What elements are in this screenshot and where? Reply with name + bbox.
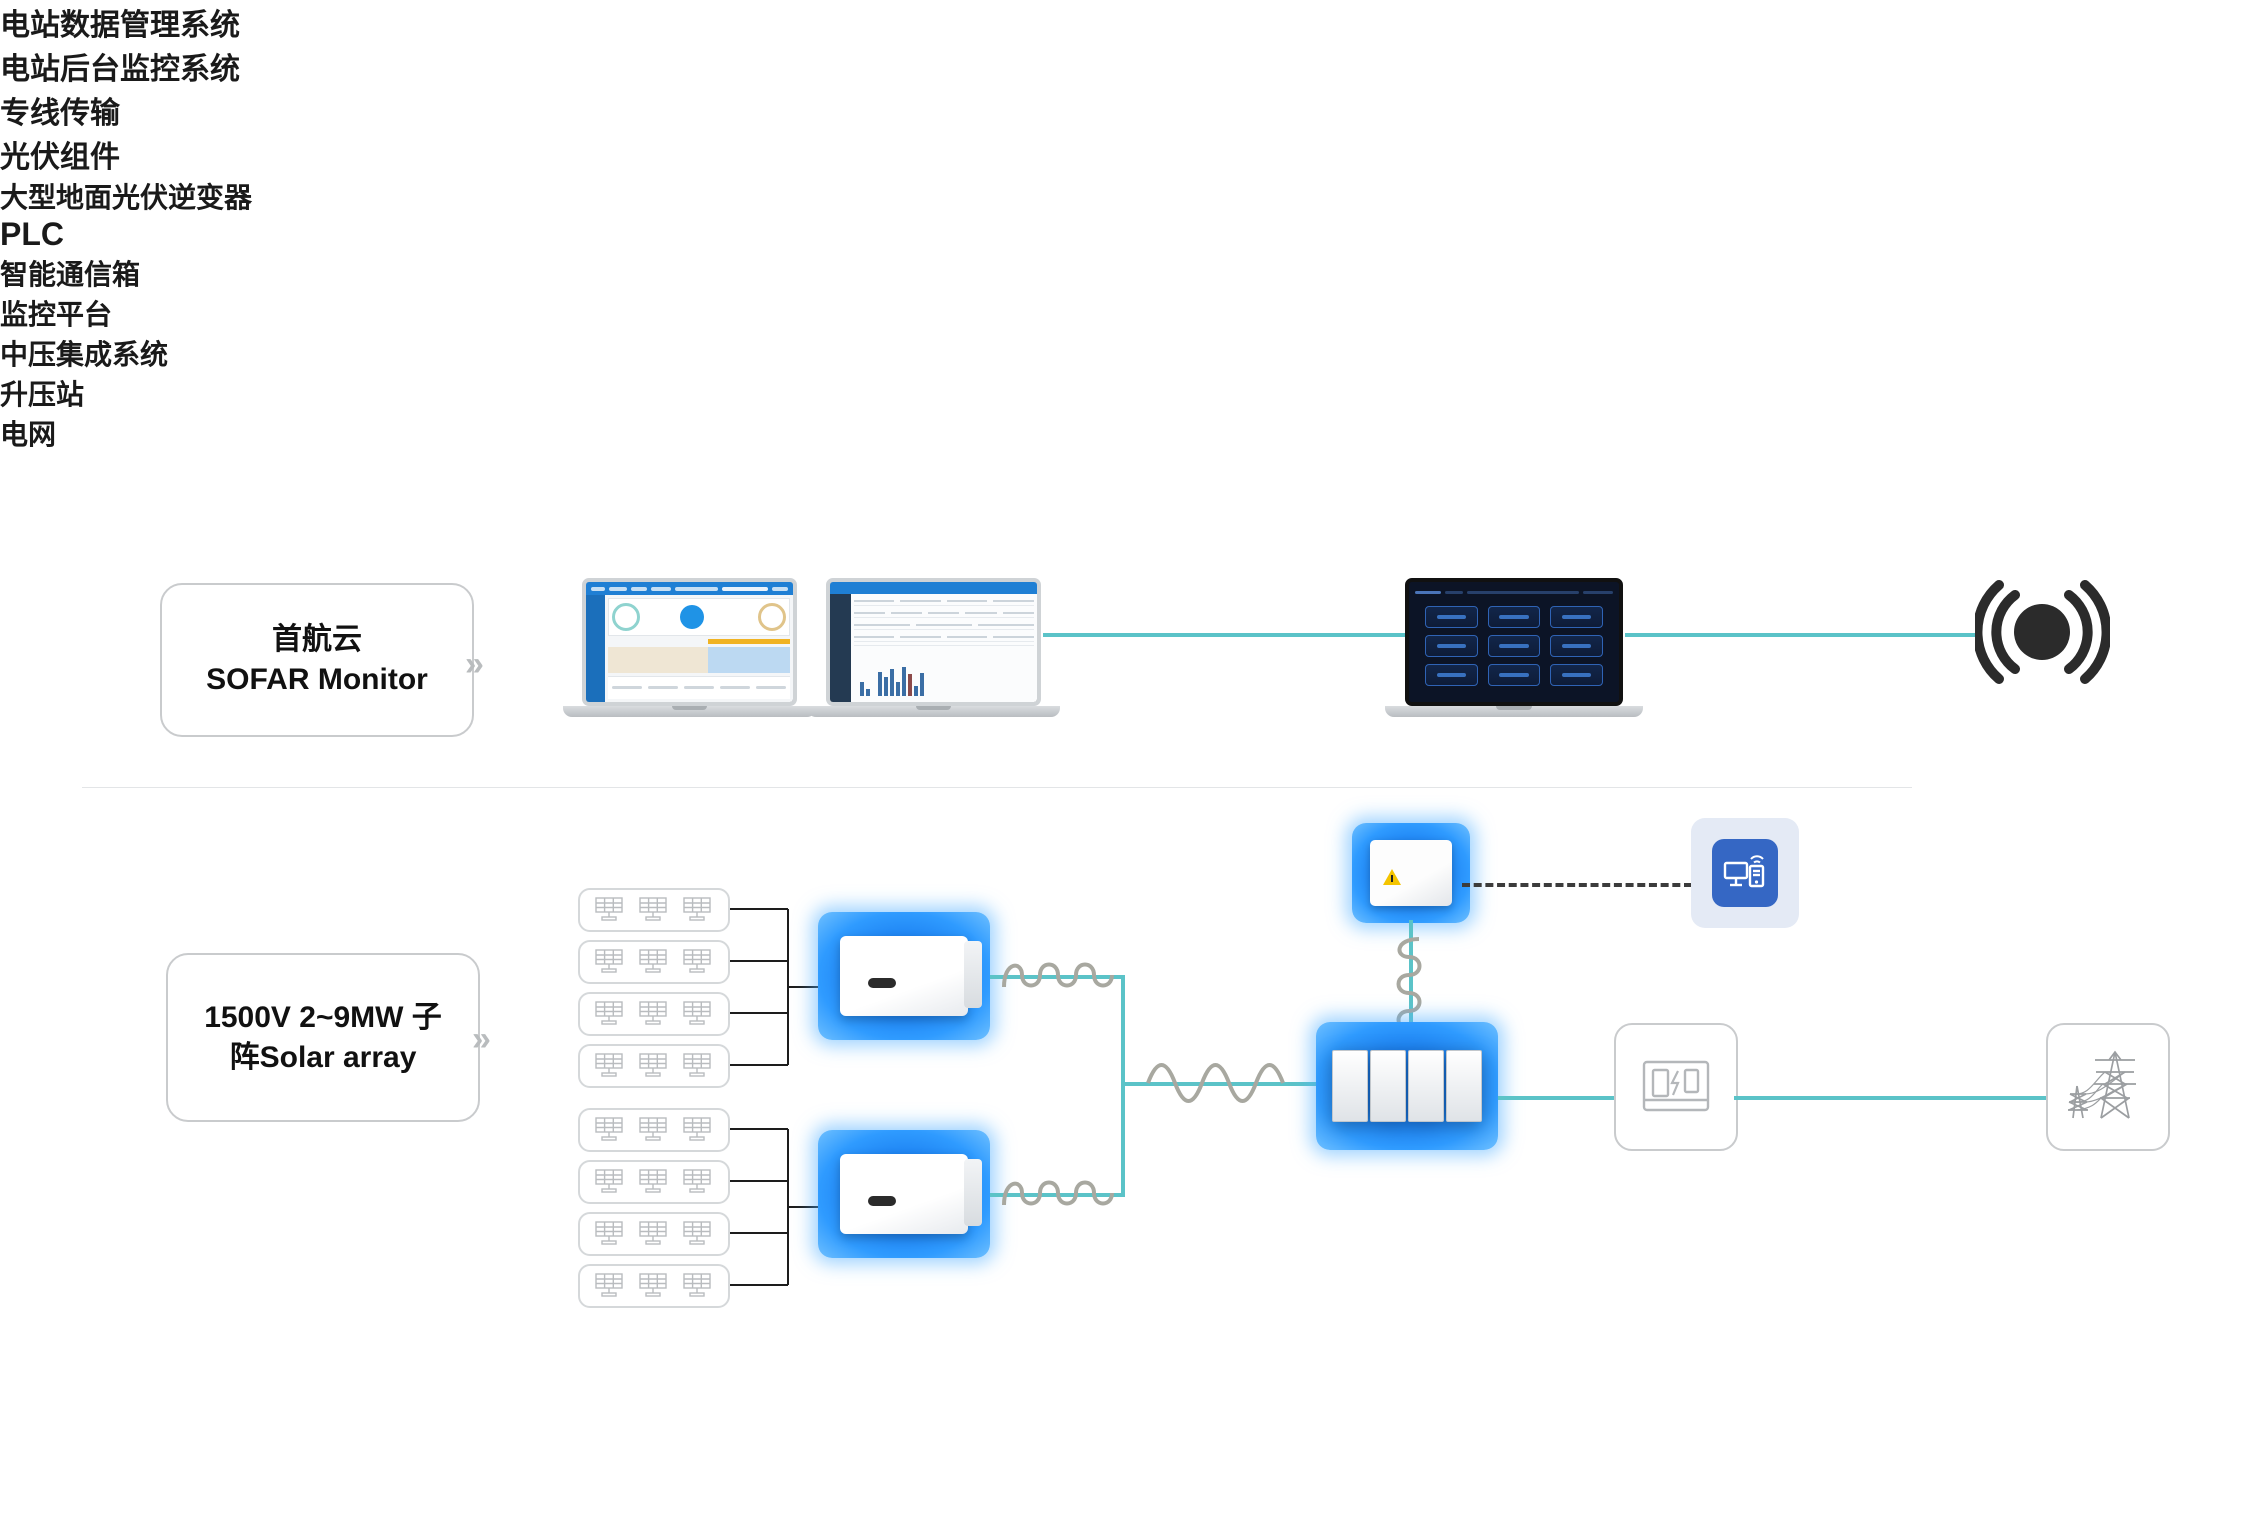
solar-panel-icon — [681, 947, 715, 977]
solar-panel-icon — [637, 895, 671, 925]
backend-tile[interactable] — [1425, 635, 1478, 657]
pv-modules-label: 光伏组件 — [0, 132, 2265, 176]
inverter-device-1 — [818, 912, 990, 1040]
map-sea-area — [708, 647, 790, 672]
kpi-blue-badge — [680, 605, 704, 629]
backend-tile[interactable] — [1550, 606, 1603, 628]
laptop-screen-dark — [1405, 578, 1623, 706]
laptop-screen-dashboard — [582, 578, 797, 706]
backend-tile[interactable] — [1488, 664, 1541, 686]
pv-string-box — [578, 992, 730, 1036]
backend-tile[interactable] — [1425, 606, 1478, 628]
connector-mv-to-booster — [1498, 1096, 1616, 1100]
report-topbar — [830, 582, 1037, 594]
solar-panel-icon — [637, 1115, 671, 1145]
solar-panel-icon — [593, 1219, 627, 1249]
pv-string-box — [578, 1160, 730, 1204]
backend-tile[interactable] — [1550, 635, 1603, 657]
report-row — [854, 609, 1034, 618]
section-divider — [82, 787, 1912, 788]
connector-commbox-to-platform — [1462, 883, 1692, 887]
connector-booster-to-grid — [1734, 1096, 2049, 1100]
substation-cabinet-icon — [1640, 1056, 1712, 1118]
inverter-heatsink — [964, 941, 982, 1008]
transmission-tower-icon — [2065, 1046, 2151, 1128]
solar-panel-icon — [637, 999, 671, 1029]
report-ui — [830, 582, 1037, 702]
pv-string-box — [578, 1212, 730, 1256]
dashboard-ui — [586, 582, 793, 702]
solar-panel-icon — [637, 1219, 671, 1249]
solar-panel-icon — [593, 1051, 627, 1081]
laptops-label: 电站数据管理系统 — [0, 0, 2265, 44]
container-segment — [1446, 1050, 1482, 1122]
row2-chevron-icon: » — [472, 1020, 485, 1059]
mv-system-label: 中压集成系统 — [0, 333, 2265, 373]
sofar-monitor-card: 首航云 SOFAR Monitor — [160, 583, 474, 737]
laptop-base — [1385, 706, 1642, 717]
inverter-body — [840, 936, 967, 1015]
monitor-platform-backing — [1691, 818, 1799, 928]
solar-panel-icon — [681, 1051, 715, 1081]
grid-box — [2046, 1023, 2170, 1151]
sofar-card-line2: SOFAR Monitor — [206, 663, 428, 696]
report-body — [830, 594, 1037, 702]
booster-station-label: 升压站 — [0, 373, 2265, 413]
solar-panel-icon — [593, 1271, 627, 1301]
inverter-heatsink — [964, 1159, 982, 1226]
pv-string-box — [578, 1264, 730, 1308]
smart-comm-box-label: 智能通信箱 — [0, 253, 2265, 293]
pv-string-box — [578, 940, 730, 984]
solar-panel-icon — [593, 947, 627, 977]
solar-panel-icon — [681, 1271, 715, 1301]
solar-array-card-text: 1500V 2~9MW 子 阵Solar array — [204, 998, 442, 1077]
desktop-pc-wifi-icon[interactable] — [1712, 839, 1779, 907]
container-segment — [1332, 1050, 1368, 1122]
connector-laptops-to-monitor — [1043, 633, 1405, 637]
laptop-data-management — [582, 578, 797, 718]
solar-panel-icon — [681, 895, 715, 925]
plc-label: PLC — [0, 216, 2265, 253]
laptop-base — [563, 706, 817, 717]
sofar-card-line1: 首航云 — [272, 623, 362, 656]
solar-panel-icon — [681, 1115, 715, 1145]
solar-panel-icon — [637, 1271, 671, 1301]
solar-panel-icon — [637, 1167, 671, 1197]
inductor-coil-icon — [1000, 1173, 1120, 1218]
grid-label: 电网 — [0, 413, 2265, 453]
laptop-report-system — [826, 578, 1041, 718]
booster-station-box — [1614, 1023, 1738, 1151]
dashboard-sidebar — [586, 595, 605, 702]
laptop-base — [807, 706, 1061, 717]
dashboard-main — [605, 595, 793, 702]
solar-panel-icon — [681, 1167, 715, 1197]
dashboard-topbar — [586, 582, 793, 595]
smart-comm-box-device — [1352, 823, 1470, 923]
solar-panel-icon — [637, 947, 671, 977]
solar-panel-icon — [637, 1051, 671, 1081]
kpi-ring-gauge-2 — [758, 603, 786, 631]
container-segment — [1370, 1050, 1406, 1122]
sofar-monitor-card-text: 首航云 SOFAR Monitor — [206, 620, 428, 699]
solar-panel-icon — [593, 1115, 627, 1145]
solar-panel-icon — [593, 895, 627, 925]
backend-tile[interactable] — [1488, 606, 1541, 628]
report-bar-chart — [854, 645, 1034, 699]
report-main — [851, 594, 1037, 702]
dashboard-highlight-bar — [708, 639, 790, 644]
inverter-label: 大型地面光伏逆变器 — [0, 176, 2265, 216]
solar-panel-icon — [681, 1219, 715, 1249]
report-row — [854, 633, 1034, 642]
dashboard-table — [608, 676, 790, 699]
pv-string-box — [578, 1044, 730, 1088]
kpi-ring-gauge — [612, 603, 640, 631]
backend-monitor-label: 电站后台监控系统 — [0, 44, 2265, 88]
warning-triangle-icon — [1383, 869, 1401, 885]
pv-string-box — [578, 888, 730, 932]
connector-inverter-bus — [1121, 975, 1125, 1197]
solar-card-line1: 1500V 2~9MW 子 — [204, 1001, 442, 1034]
solar-panel-icon — [681, 999, 715, 1029]
dashboard-kpi-cards — [608, 598, 790, 636]
monitor-platform-label: 监控平台 — [0, 293, 2265, 333]
laptop-backend-monitoring — [1405, 578, 1623, 718]
report-sidebar — [830, 594, 851, 702]
broadcast-label: 专线传输 — [0, 88, 2265, 132]
inductor-coil-icon — [1000, 955, 1120, 1000]
laptop-screen-report — [826, 578, 1041, 706]
row1-chevron-icon: » — [465, 645, 478, 684]
inverter-body — [840, 1154, 967, 1233]
mv-system-device — [1316, 1022, 1498, 1150]
solar-panel-icon — [593, 1167, 627, 1197]
sine-wave-icon — [1145, 1063, 1295, 1108]
inverter-device-2 — [818, 1130, 990, 1258]
container-segment — [1408, 1050, 1444, 1122]
broadcast-signal-icon — [1975, 577, 2110, 692]
backend-tile[interactable] — [1488, 635, 1541, 657]
report-row — [854, 621, 1034, 630]
solar-array-card: 1500V 2~9MW 子 阵Solar array — [166, 953, 480, 1122]
backend-ui — [1409, 582, 1619, 702]
solar-panel-icon — [593, 999, 627, 1029]
backend-tile-grid — [1415, 598, 1613, 696]
dashboard-body — [586, 595, 793, 702]
dashboard-map — [608, 647, 790, 672]
backend-tile[interactable] — [1425, 664, 1478, 686]
report-row — [854, 597, 1034, 606]
solar-card-line2: 阵Solar array — [230, 1041, 417, 1074]
connector-monitor-to-broadcast — [1625, 633, 1975, 637]
pv-string-box — [578, 1108, 730, 1152]
backend-tile[interactable] — [1550, 664, 1603, 686]
comm-box-body — [1370, 840, 1453, 906]
mv-container-body — [1332, 1050, 1481, 1122]
backend-header — [1415, 588, 1613, 598]
